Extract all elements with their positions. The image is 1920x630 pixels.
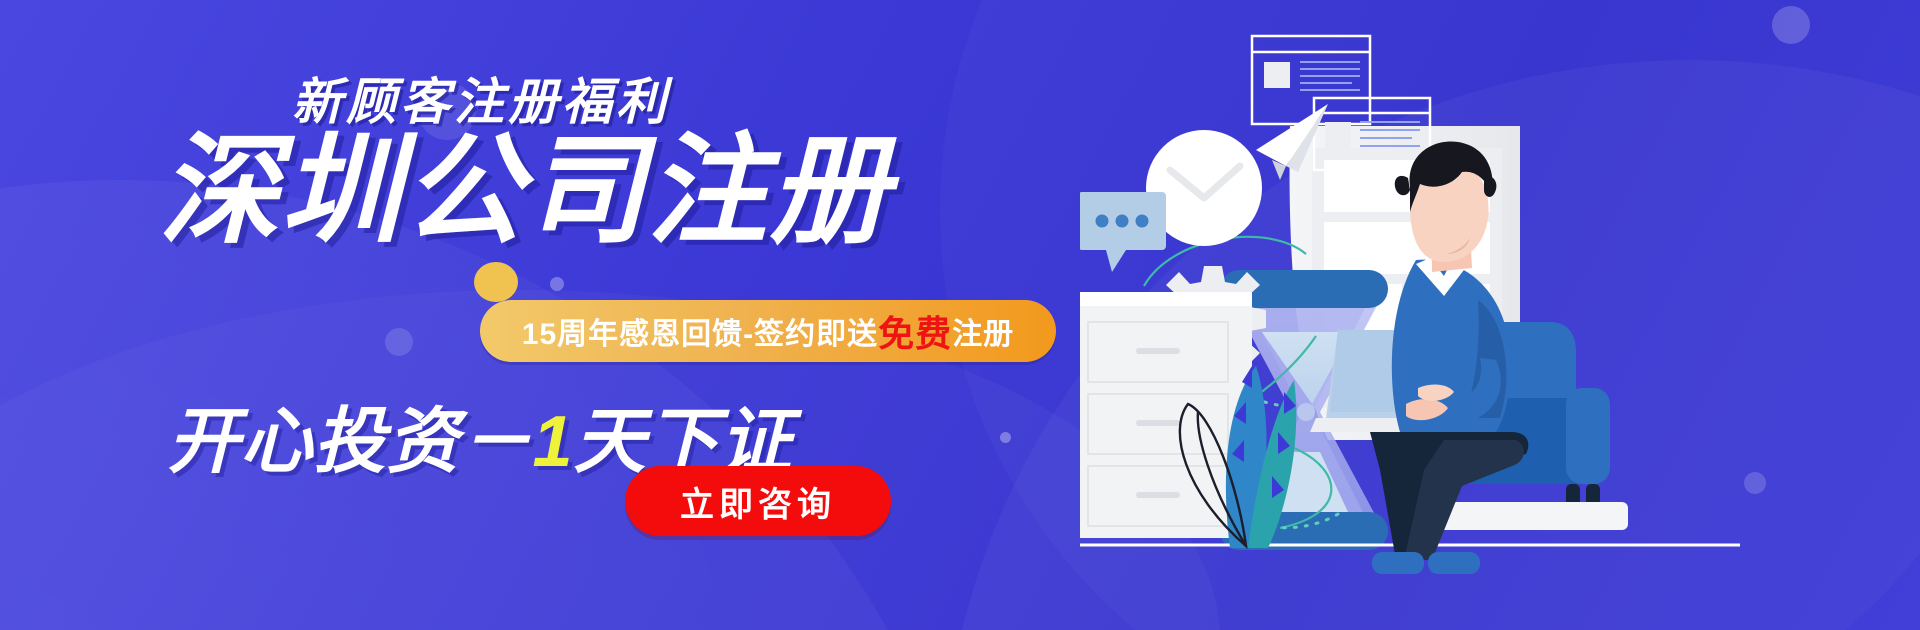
document-card-thumb-2	[1325, 122, 1351, 148]
promo-banner: 新顾客注册福利 深圳公司注册 15周年感恩回馈-签约即送免费注册 开心投资－1天…	[0, 0, 1920, 630]
shoe-left	[1372, 552, 1424, 574]
shoe-right	[1428, 552, 1480, 574]
promo-badge-text: 15周年感恩回馈-签约即送免费注册	[522, 305, 1014, 357]
document-card-lines	[1300, 62, 1360, 90]
promo-badge-trail: 注册	[952, 318, 1014, 351]
document-card-thumb	[1264, 62, 1290, 88]
tagline-prefix: 开心投资－	[167, 402, 532, 482]
page-title: 深圳公司注册	[0, 128, 1050, 254]
promo-badge-highlight: 免费	[878, 313, 952, 354]
consult-now-button-label: 立即咨询	[680, 477, 836, 526]
promo-badge: 15周年感恩回馈-签约即送免费注册	[480, 300, 1056, 362]
tagline-number: 1	[532, 402, 573, 482]
promo-badge-lead: 15周年感恩回馈-签约即送	[522, 318, 878, 351]
promo-copy-block: 新顾客注册福利 深圳公司注册 15周年感恩回馈-签约即送免费注册 开心投资－1天…	[0, 0, 1090, 630]
consult-now-button[interactable]: 立即咨询	[625, 466, 891, 536]
office-illustration	[1080, 0, 1920, 630]
speech-bubble-icon	[1080, 192, 1166, 272]
